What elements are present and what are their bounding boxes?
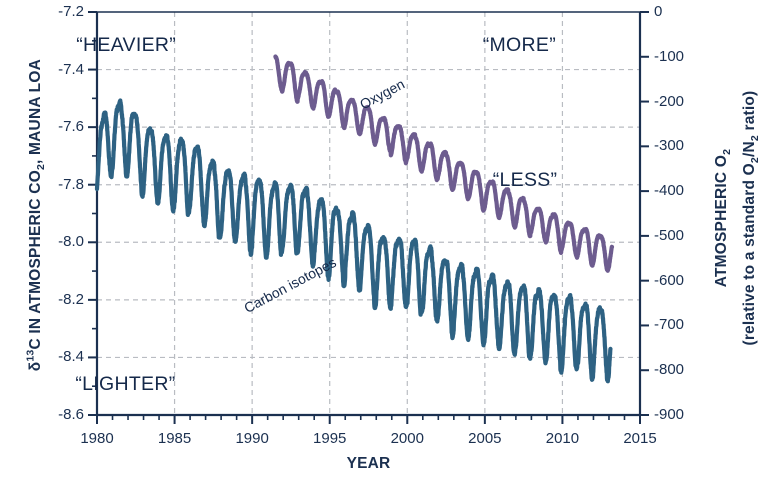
y-tick-label-right: -800 bbox=[654, 361, 714, 378]
x-tick-label: 2000 bbox=[377, 430, 437, 447]
x-tick-label: 2005 bbox=[455, 430, 515, 447]
x-tick-label: 2010 bbox=[532, 430, 592, 447]
y-tick-label-right: -600 bbox=[654, 272, 714, 289]
y-tick-label-right: -500 bbox=[654, 227, 714, 244]
y-tick-label-right: -200 bbox=[654, 93, 714, 110]
y-tick-label-left: -7.2 bbox=[28, 3, 84, 20]
y-tick-label-left: -8.0 bbox=[28, 233, 84, 250]
x-tick-label: 1980 bbox=[67, 430, 127, 447]
callout-heavier: “HEAVIER” bbox=[76, 34, 176, 57]
callout-more: “MORE” bbox=[483, 34, 556, 57]
y-tick-label-left: -7.6 bbox=[28, 118, 84, 135]
y-tick-label-left: -8.4 bbox=[28, 348, 84, 365]
y-tick-label-right: 0 bbox=[654, 3, 714, 20]
y-tick-label-right: -900 bbox=[654, 406, 714, 423]
y-tick-label-right: -300 bbox=[654, 137, 714, 154]
x-tick-label: 1990 bbox=[222, 430, 282, 447]
callout-less: “LESS” bbox=[493, 169, 558, 192]
y-tick-label-left: -7.8 bbox=[28, 176, 84, 193]
y-tick-label-left: -7.4 bbox=[28, 61, 84, 78]
chart-figure: δ13C IN ATMOSPHERIC CO2, MAUNA LOA ATMOS… bbox=[0, 0, 775, 481]
y-tick-label-left: -8.2 bbox=[28, 291, 84, 308]
y-tick-label-left: -8.6 bbox=[28, 406, 84, 423]
y-tick-label-right: -100 bbox=[654, 48, 714, 65]
callout-lighter: “LIGHTER” bbox=[75, 373, 175, 396]
y-tick-label-right: -400 bbox=[654, 182, 714, 199]
x-tick-label: 1985 bbox=[145, 430, 205, 447]
y-tick-label-right: -700 bbox=[654, 316, 714, 333]
x-tick-label: 2015 bbox=[610, 430, 670, 447]
axis-ticks bbox=[88, 12, 649, 424]
x-tick-label: 1995 bbox=[300, 430, 360, 447]
